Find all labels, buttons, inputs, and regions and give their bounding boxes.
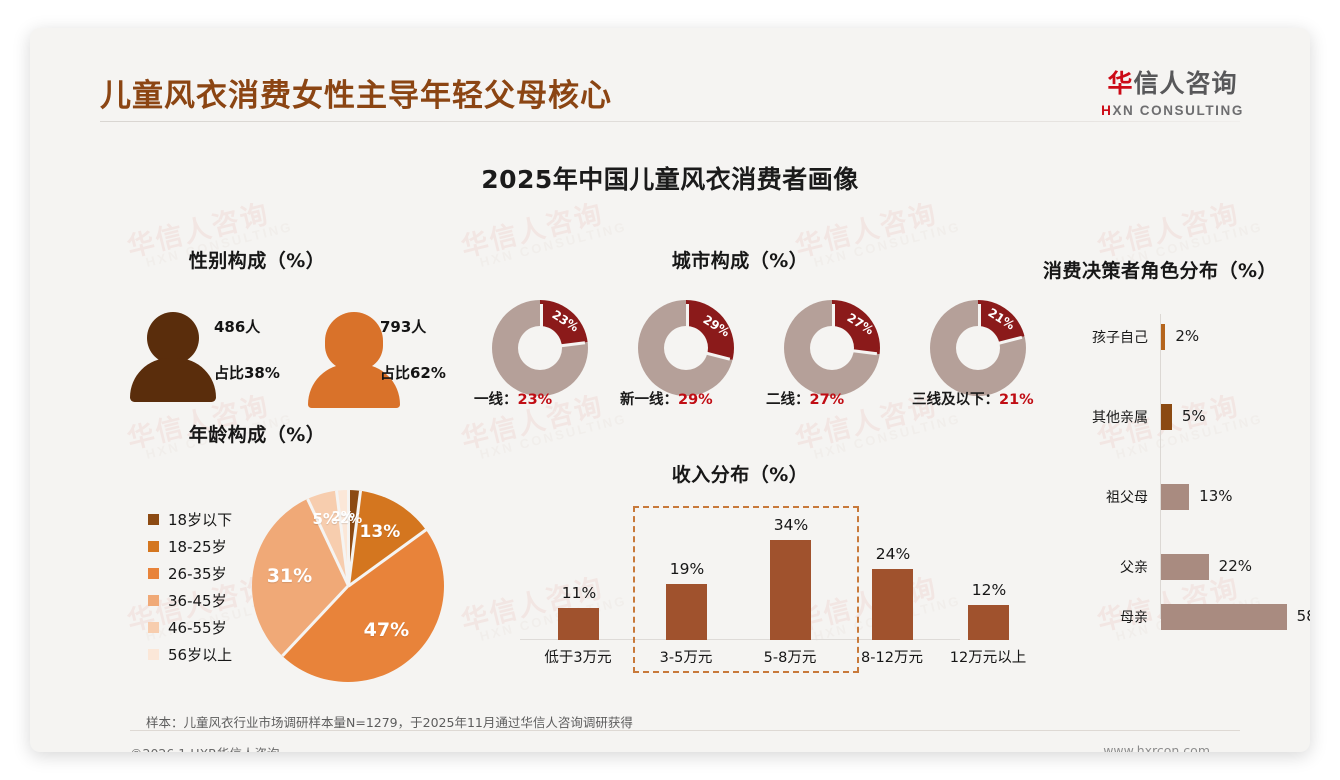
logo-en-red: H [1101,103,1112,118]
income-section-title: 收入分布（%） [520,460,960,487]
female-share: 占比62% [380,362,446,383]
income-bar [968,605,1009,640]
pie-value-label: 13% [360,522,401,542]
decider-section-title: 消费决策者角色分布（%） [1010,256,1310,283]
female-count: 793人 [380,316,426,337]
decider-row: 父亲22% [1030,554,1300,580]
legend-swatch [148,568,159,579]
male-share: 占比38% [214,362,280,383]
legend-item[interactable]: 26-35岁 [148,560,232,587]
income-bar-category: 低于3万元 [528,646,628,667]
pie-value-label: 47% [364,619,409,641]
income-bar-chart: 11%低于3万元19%3-5万元34%5-8万元24%8-12万元12%12万元… [520,498,960,673]
male-count: 486人 [214,316,260,337]
donut-caption: 新一线：29% [620,388,713,409]
legend-label: 18-25岁 [168,536,227,557]
copyright-text: ©2026.1 HXR华信人咨询 [130,743,279,752]
decider-category: 其他亲属 [1092,407,1148,427]
income-bar [558,608,599,640]
legend-label: 36-45岁 [168,590,227,611]
pie-value-label: 2% [332,510,354,525]
income-bar-category: 12万元以上 [938,646,1038,667]
decider-row: 其他亲属5% [1030,404,1300,430]
legend-label: 56岁以上 [168,644,232,665]
gender-section-title: 性别构成（%） [102,246,412,273]
decider-category: 孩子自己 [1092,327,1148,347]
legend-item[interactable]: 36-45岁 [148,587,232,614]
decider-category: 祖父母 [1106,487,1148,507]
legend-item[interactable]: 18岁以下 [148,506,232,533]
decider-bar [1161,554,1209,580]
donut-ring [638,300,734,396]
donut-caption: 二线：27% [766,388,844,409]
decider-value: 13% [1199,487,1232,505]
legend-swatch [148,541,159,552]
donut-ring [930,300,1026,396]
donut-hole [956,326,1000,370]
pie-value-label: 31% [267,565,312,587]
donut-ring [492,300,588,396]
legend-swatch [148,649,159,660]
decider-row: 祖父母13% [1030,484,1300,510]
decider-category: 母亲 [1120,607,1148,627]
donut-caption-label: 新一线： [620,392,678,408]
donut-hole [518,326,562,370]
city-section-title: 城市构成（%） [500,246,980,273]
donut-caption-value: 21% [999,392,1034,408]
logo-cn-gray: 信人咨询 [1134,69,1238,98]
donut-hole [810,326,854,370]
legend-label: 18岁以下 [168,509,232,530]
donut-caption-value: 29% [678,392,713,408]
donut-caption-label: 一线： [474,392,518,408]
brand-logo: 华信人咨询 HXN CONSULTING [1101,64,1244,118]
legend-label: 26-35岁 [168,563,227,584]
legend-item[interactable]: 18-25岁 [148,533,232,560]
city-donut-0: 23% [492,300,588,396]
pie-slice-divider [282,585,350,657]
decider-row: 孩子自己2% [1030,324,1300,350]
income-bar [872,569,913,640]
decider-bar [1161,484,1189,510]
legend-swatch [148,514,159,525]
age-pie-chart: 2%13%47%31%5%2% [252,490,444,682]
donut-ring [784,300,880,396]
decider-category: 父亲 [1120,557,1148,577]
city-donut-2: 27% [784,300,880,396]
decider-bar [1161,604,1287,630]
slide-canvas: 华信人咨询HXN CONSULTING 华信人咨询HXN CONSULTING … [30,28,1310,752]
donut-caption-label: 三线及以下： [912,392,999,408]
header-divider [100,121,1240,122]
city-donut-1: 29% [638,300,734,396]
income-highlight-box [633,506,859,673]
chart-subtitle: 2025年中国儿童风衣消费者画像 [30,160,1310,196]
decider-value: 58% [1297,607,1310,625]
age-section-title: 年龄构成（%） [102,420,412,447]
male-avatar-icon [130,312,216,402]
footer-divider [130,730,1240,731]
decider-row: 母亲58% [1030,604,1300,630]
decider-value: 22% [1219,557,1252,575]
decider-bar [1161,324,1165,350]
donut-caption-value: 23% [518,392,553,408]
legend-swatch [148,622,159,633]
logo-en-rest: XN CONSULTING [1112,103,1244,118]
logo-cn-red: 华 [1108,69,1134,98]
income-bar-value: 12% [954,581,1024,599]
decider-bar [1161,404,1172,430]
donut-hole [664,326,708,370]
page-title: 儿童风衣消费女性主导年轻父母核心 [100,70,612,115]
legend-label: 46-55岁 [168,617,227,638]
city-donut-3: 21% [930,300,1026,396]
legend-item[interactable]: 46-55岁 [148,614,232,641]
donut-caption-value: 27% [810,392,845,408]
donut-caption: 三线及以下：21% [912,388,1034,409]
donut-caption: 一线：23% [474,388,552,409]
income-bar-value: 11% [544,584,614,602]
donut-caption-label: 二线： [766,392,810,408]
income-bar-value: 24% [858,545,928,563]
age-pie-legend: 18岁以下18-25岁26-35岁36-45岁46-55岁56岁以上 [148,506,232,668]
decider-value: 5% [1182,407,1206,425]
website-url: www.hxrcon.com [1103,743,1210,752]
legend-item[interactable]: 56岁以上 [148,641,232,668]
decider-bar-chart: 孩子自己2%其他亲属5%祖父母13%父亲22%母亲58% [1030,308,1300,628]
legend-swatch [148,595,159,606]
sample-note: 样本：儿童风衣行业市场调研样本量N=1279，于2025年11月通过华信人咨询调… [146,712,633,731]
decider-value: 2% [1175,327,1199,345]
